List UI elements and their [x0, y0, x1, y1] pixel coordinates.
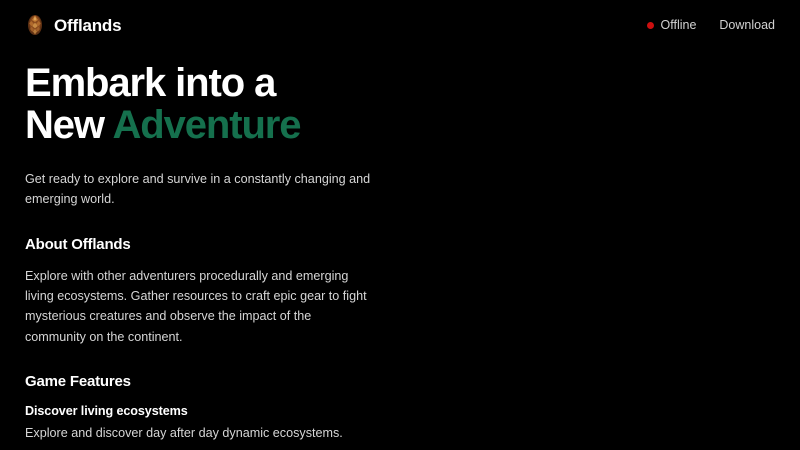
hero-title-line2-plain: New: [25, 103, 112, 147]
site-header: Offlands Offline Download: [0, 0, 800, 50]
status-badge-offline: Offline: [647, 19, 697, 32]
page-title: Embark into a New Adventure: [25, 62, 395, 147]
pinecone-icon: [25, 14, 45, 36]
brand[interactable]: Offlands: [25, 14, 121, 36]
brand-name: Offlands: [54, 17, 121, 34]
status-label: Offline: [661, 19, 697, 32]
feature-title: Discover living ecosystems: [25, 404, 395, 418]
hero-title-line2-accent: Adventure: [112, 103, 300, 147]
about-heading: About Offlands: [25, 236, 395, 253]
about-body: Explore with other adventurers procedura…: [25, 266, 375, 348]
status-dot-icon: [647, 22, 654, 29]
features-heading: Game Features: [25, 373, 395, 390]
header-nav: Offline Download: [647, 19, 776, 32]
hero-title-line1: Embark into a: [25, 61, 275, 105]
hero-lede: Get ready to explore and survive in a co…: [25, 169, 381, 210]
feature-item: Discover living ecosystems Explore and d…: [25, 404, 395, 443]
feature-text: Explore and discover day after day dynam…: [25, 423, 377, 443]
main-content: Embark into a New Adventure Get ready to…: [0, 50, 420, 450]
download-link[interactable]: Download: [719, 19, 775, 32]
page-root: Offlands Offline Download Embark into a …: [0, 0, 800, 450]
